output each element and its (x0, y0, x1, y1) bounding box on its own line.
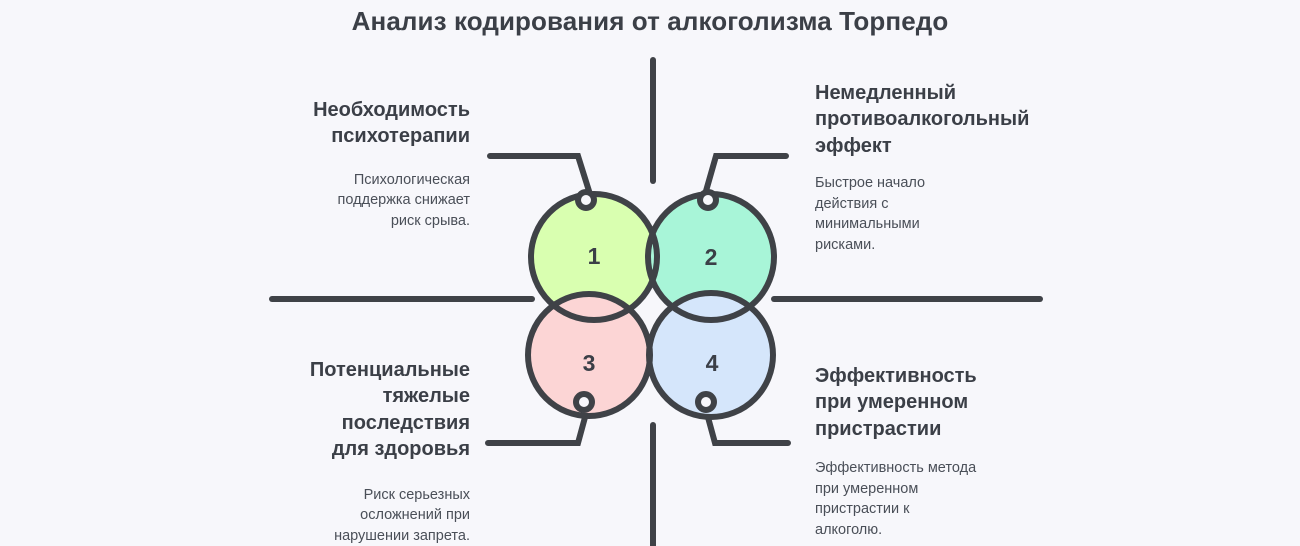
circle-label-4: 4 (692, 350, 732, 377)
quadrant-top-left-body: Психологическая поддержка снижает риск с… (180, 170, 470, 232)
quadrant-top-right: Немедленный противоалкогольный эффект Бы… (815, 80, 1070, 255)
connector-top-left (490, 156, 589, 191)
connector-ring-2 (700, 192, 716, 208)
quadrant-bottom-left-body: Риск серьезных осложнений при нарушении … (180, 485, 470, 546)
connector-ring-4 (698, 394, 714, 410)
quadrant-top-right-heading: Немедленный противоалкогольный эффект (815, 80, 1070, 159)
quadrant-bottom-right-body: Эффективность метода при умеренном прист… (815, 458, 1065, 540)
circle-label-3: 3 (569, 350, 609, 377)
quadrant-bottom-right: Эффективность при умеренном пристрастии … (815, 363, 1065, 540)
connector-ring-1 (578, 192, 594, 208)
quadrant-bottom-left: Потенциальные тяжелые последствия для зд… (180, 357, 470, 546)
quadrant-bottom-left-heading: Потенциальные тяжелые последствия для зд… (180, 357, 470, 463)
connector-top-right (706, 156, 786, 191)
quadrant-bottom-right-heading: Эффективность при умеренном пристрастии (815, 363, 1065, 442)
infographic-root: Анализ кодирования от алкоголизма Торпед… (0, 0, 1300, 546)
circle-label-2: 2 (691, 244, 731, 271)
quadrant-top-right-body: Быстрое начало действия с минимальными р… (815, 173, 1070, 255)
quadrant-top-left: Необходимость психотерапии Психологическ… (180, 97, 470, 232)
quadrant-top-left-heading: Необходимость психотерапии (180, 97, 470, 150)
circle-label-1: 1 (574, 243, 614, 270)
connector-ring-3 (576, 394, 592, 410)
